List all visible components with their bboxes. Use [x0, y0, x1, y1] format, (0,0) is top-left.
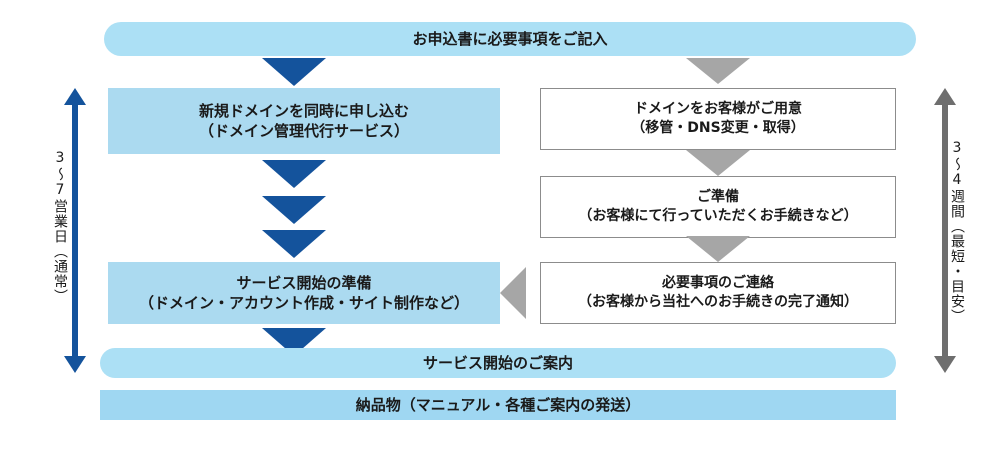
top-bar-label: お申込書に必要事項をご記入 [412, 29, 607, 49]
arrow-down-gray-to-right-box2 [686, 150, 750, 176]
axis-shaft-blue [72, 102, 78, 359]
right-box-required-info-notice-line1: 必要事項のご連絡 [578, 274, 858, 293]
bottom-bar-service-start-guide: サービス開始のご案内 [100, 348, 896, 378]
arrow-down-blue-to-left-box1 [262, 58, 326, 86]
flowchart-canvas: お申込書に必要事項をご記入 新規ドメインを同時に申し込む （ドメイン管理代行サー… [0, 0, 1000, 450]
duration-label-left: 3〜7営業日（通常） [50, 150, 70, 304]
left-box-service-preparation: サービス開始の準備 （ドメイン・アカウント作成・サイト制作など） [108, 262, 500, 324]
right-box-customer-prepares-domain-line1: ドメインをお客様がご用意 [631, 100, 804, 119]
right-box-preparation: ご準備 （お客様にて行っていただくお手続きなど） [540, 176, 896, 238]
arrow-left-gray-merge [500, 267, 526, 319]
arrow-down-gray-to-right-box1 [686, 58, 750, 84]
left-box-service-preparation-line1: サービス開始の準備 [139, 273, 469, 293]
left-box-new-domain: 新規ドメインを同時に申し込む （ドメイン管理代行サービス） [108, 88, 500, 154]
duration-label-right: 3〜4週間（最短・目安） [947, 140, 967, 324]
left-box-service-preparation-line2: （ドメイン・アカウント作成・サイト制作など） [139, 293, 469, 313]
right-box-required-info-notice: 必要事項のご連絡 （お客様から当社へのお手続きの完了通知） [540, 262, 896, 324]
axis-arrowhead-down-gray [934, 356, 956, 373]
right-box-customer-prepares-domain-line2: （移管・DNS変更・取得） [631, 119, 804, 138]
left-box-new-domain-line2: （ドメイン管理代行サービス） [199, 121, 409, 141]
right-box-preparation-line1: ご準備 [578, 188, 857, 207]
bottom-bar-deliverables: 納品物（マニュアル・各種ご案内の発送） [100, 390, 896, 420]
arrow-down-blue-step2 [262, 196, 326, 224]
arrow-down-gray-to-right-box3 [686, 236, 750, 262]
right-box-preparation-line2: （お客様にて行っていただくお手続きなど） [578, 207, 857, 226]
arrow-down-blue-step1 [262, 160, 326, 188]
bottom-bar-service-start-guide-label: サービス開始のご案内 [423, 353, 573, 373]
arrow-down-blue-step3 [262, 230, 326, 258]
right-box-required-info-notice-line2: （お客様から当社へのお手続きの完了通知） [578, 293, 858, 312]
bottom-bar-deliverables-label: 納品物（マニュアル・各種ご案内の発送） [356, 395, 641, 415]
axis-arrowhead-down-blue [64, 356, 86, 373]
right-box-customer-prepares-domain: ドメインをお客様がご用意 （移管・DNS変更・取得） [540, 88, 896, 150]
left-box-new-domain-line1: 新規ドメインを同時に申し込む [199, 101, 409, 121]
top-bar-application-form: お申込書に必要事項をご記入 [104, 22, 916, 56]
